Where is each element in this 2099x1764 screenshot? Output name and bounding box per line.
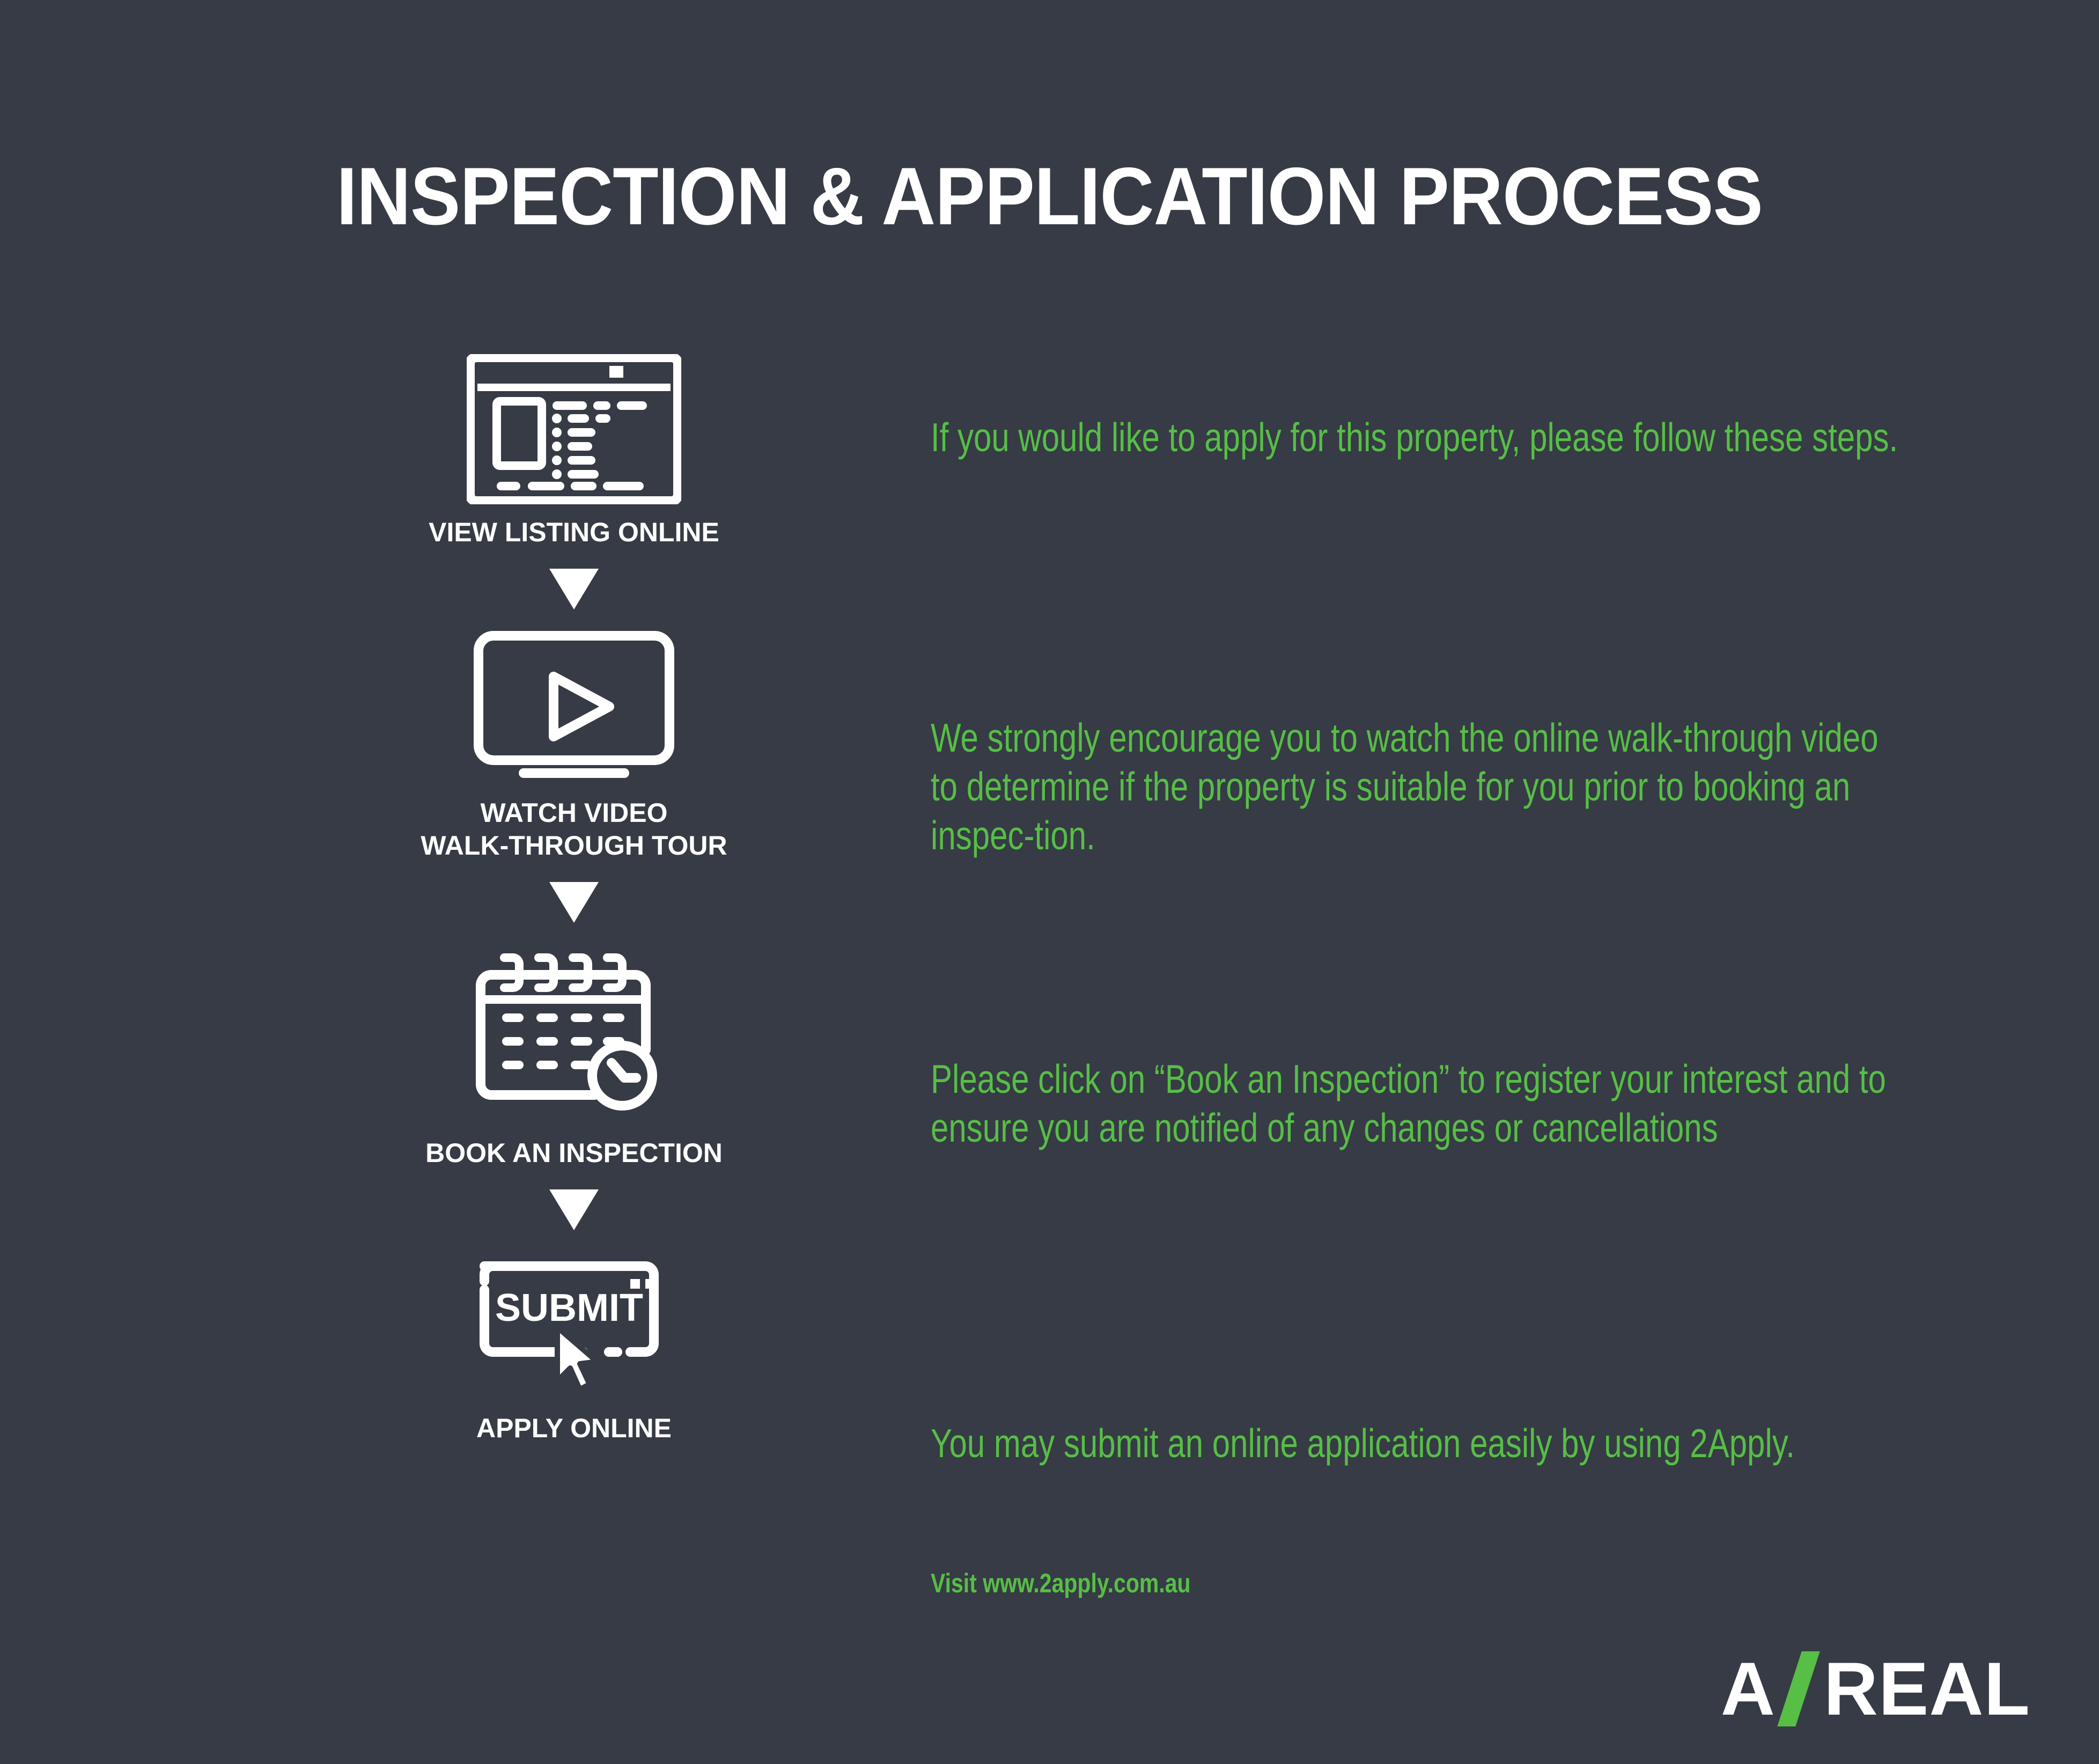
- calendar-clock-icon: [472, 943, 676, 1125]
- down-triangle-icon: [354, 862, 794, 943]
- blurb-apply-online: You may submit an online application eas…: [931, 1419, 1911, 1468]
- infographic-canvas: INSPECTION & APPLICATION PROCESS: [0, 0, 2099, 1764]
- logo-letter-a: A: [1721, 1651, 1776, 1726]
- submit-button-cursor-icon: SUBMIT: [469, 1250, 679, 1400]
- blurb-view-listing-online: If you would like to apply for this prop…: [931, 413, 1911, 462]
- step-label-watch-video: WATCH VIDEO WALK-THROUGH TOUR: [421, 797, 727, 862]
- page-title: INSPECTION & APPLICATION PROCESS: [84, 156, 2015, 237]
- step-label-view-listing-online: VIEW LISTING ONLINE: [429, 516, 719, 549]
- visit-2apply-link[interactable]: Visit www.2apply.com.au: [931, 1568, 1191, 1599]
- blurb-book-inspection: Please click on “Book an Inspection” to …: [931, 1055, 1911, 1152]
- slash-icon: [1778, 1651, 1822, 1726]
- browser-listing-icon: [467, 354, 681, 504]
- blurb-watch-video: We strongly encourage you to watch the o…: [931, 714, 1911, 859]
- areal-logo: A REAL: [1721, 1651, 2030, 1726]
- down-triangle-icon: [354, 1170, 794, 1250]
- step-label-book-inspection: BOOK AN INSPECTION: [425, 1137, 723, 1170]
- step-label-apply-online: APPLY ONLINE: [476, 1412, 672, 1445]
- step-apply-online: SUBMIT APPLY ONLINE: [354, 1250, 794, 1445]
- submit-icon-text: SUBMIT: [495, 1287, 643, 1329]
- logo-word-real: REAL: [1824, 1651, 2030, 1726]
- step-book-inspection: BOOK AN INSPECTION: [354, 943, 794, 1170]
- video-play-monitor-icon: [472, 629, 676, 785]
- step-view-listing-online: VIEW LISTING ONLINE: [354, 354, 794, 549]
- process-steps-column: VIEW LISTING ONLINE WATCH VIDEO WALK-THR…: [354, 354, 794, 1445]
- down-triangle-icon: [354, 549, 794, 629]
- step-watch-video: WATCH VIDEO WALK-THROUGH TOUR: [354, 629, 794, 862]
